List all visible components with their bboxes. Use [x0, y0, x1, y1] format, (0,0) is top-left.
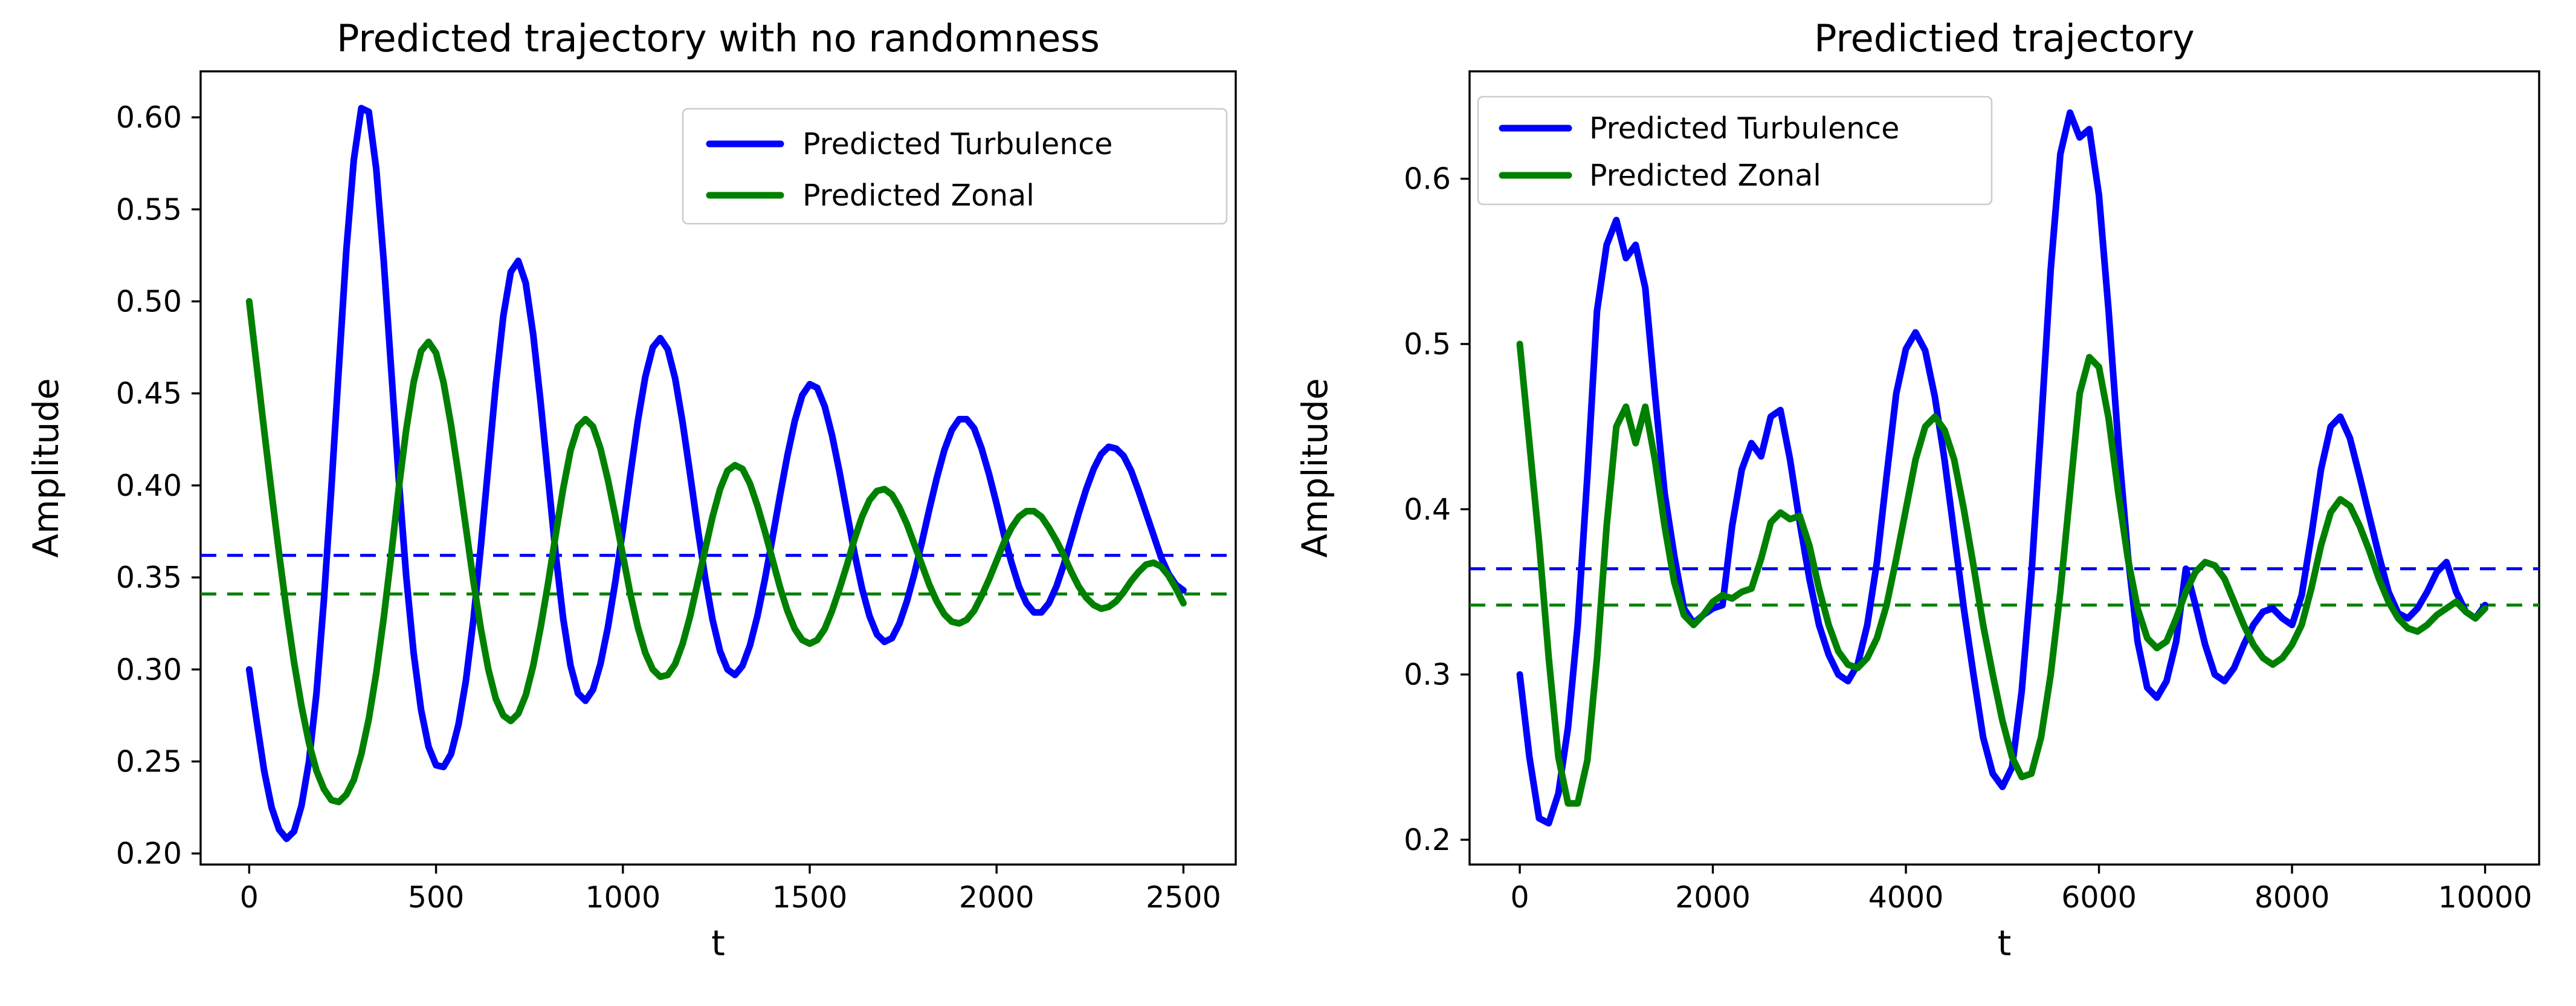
y-tick-label: 0.6: [1404, 162, 1451, 196]
chart-title: Predictied trajectory: [1814, 16, 2195, 60]
x-axis-label: t: [711, 923, 725, 964]
y-tick-label: 0.60: [116, 100, 182, 135]
x-tick-label: 500: [408, 880, 465, 915]
legend: Predicted TurbulencePredicted Zonal: [1478, 97, 1992, 204]
y-tick-label: 0.55: [116, 192, 182, 227]
x-tick-label: 4000: [1868, 880, 1944, 915]
y-axis-label: Amplitude: [1294, 378, 1335, 557]
y-tick-label: 0.3: [1404, 658, 1451, 692]
chart-title: Predicted trajectory with no randomness: [337, 16, 1100, 60]
y-tick-label: 0.25: [116, 745, 182, 779]
y-tick-label: 0.45: [116, 377, 182, 411]
y-tick-label: 0.35: [116, 560, 182, 595]
x-tick-label: 1000: [585, 880, 660, 915]
figure-root: Predicted trajectory with no randomness0…: [0, 0, 2576, 1006]
x-axis-label: t: [1998, 923, 2012, 964]
y-tick-label: 0.2: [1404, 823, 1451, 857]
y-tick-label: 0.5: [1404, 327, 1451, 362]
series-line-zonal: [1520, 344, 2485, 803]
legend-item-zonal-label: Predicted Zonal: [1589, 158, 1821, 193]
x-tick-label: 10000: [2438, 880, 2532, 915]
y-axis-label: Amplitude: [25, 378, 66, 557]
x-tick-label: 2000: [959, 880, 1035, 915]
y-tick-label: 0.4: [1404, 492, 1451, 527]
panel-right: Predictied trajectory0.20.30.40.50.60200…: [1288, 0, 2576, 1006]
x-tick-label: 2000: [1675, 880, 1751, 915]
series-group: [1520, 112, 2485, 823]
x-tick-label: 1500: [772, 880, 848, 915]
y-tick-label: 0.50: [116, 285, 182, 319]
legend: Predicted TurbulencePredicted Zonal: [683, 109, 1227, 224]
panel-left: Predicted trajectory with no randomness0…: [0, 0, 1288, 1006]
x-tick-label: 6000: [2061, 880, 2137, 915]
y-tick-label: 0.40: [116, 469, 182, 503]
x-tick-label: 0: [1510, 880, 1529, 915]
legend-item-turbulence-label: Predicted Turbulence: [802, 127, 1112, 161]
x-tick-label: 8000: [2255, 880, 2330, 915]
legend-item-turbulence-label: Predicted Turbulence: [1589, 111, 1899, 146]
legend-item-zonal-label: Predicted Zonal: [802, 178, 1035, 213]
x-tick-label: 2500: [1146, 880, 1221, 915]
right-chart-svg: Predictied trajectory0.20.30.40.50.60200…: [1288, 0, 2576, 1006]
y-tick-label: 0.20: [116, 837, 182, 871]
y-tick-label: 0.30: [116, 652, 182, 687]
x-tick-label: 0: [240, 880, 259, 915]
left-chart-svg: Predicted trajectory with no randomness0…: [0, 0, 1288, 1006]
